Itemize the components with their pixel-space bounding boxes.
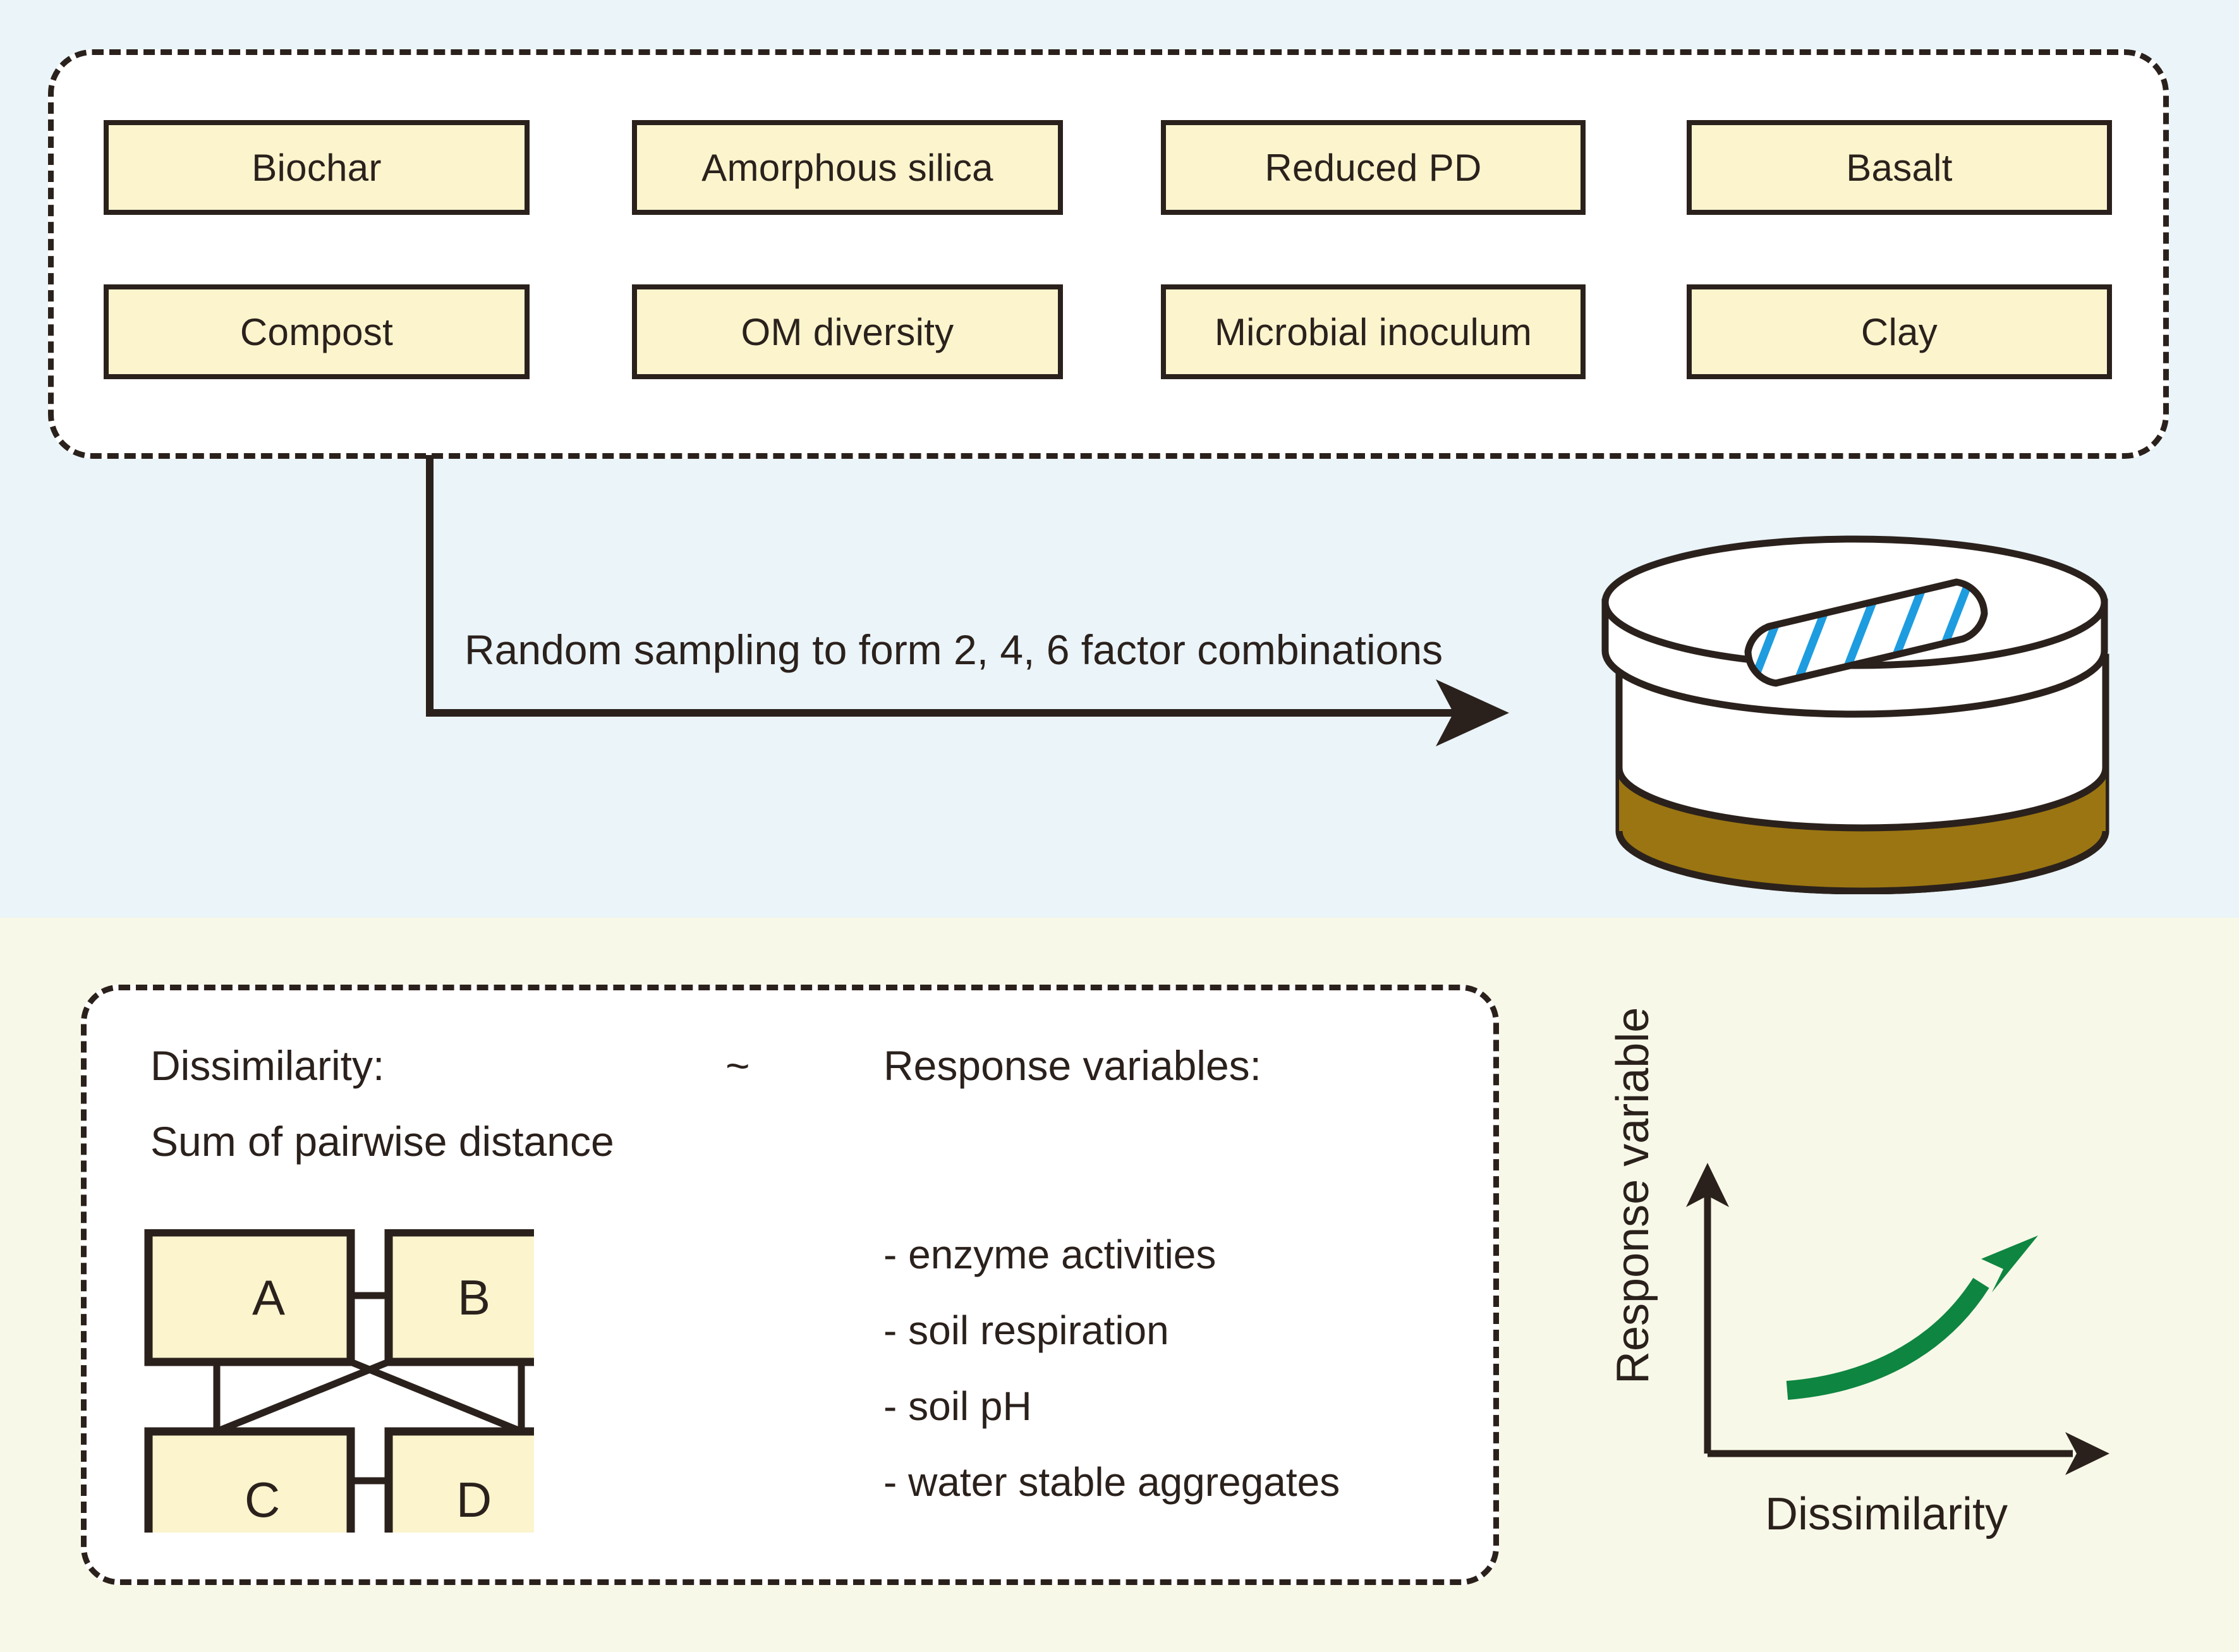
dissimilarity-subtitle: Sum of pairwise distance bbox=[150, 1117, 614, 1165]
factor-label: OM diversity bbox=[741, 310, 954, 354]
factor-label: Compost bbox=[240, 310, 393, 354]
factor-label: Amorphous silica bbox=[701, 146, 993, 190]
relation-symbol: ~ bbox=[725, 1042, 750, 1090]
factor-label: Clay bbox=[1861, 310, 1938, 354]
pairwise-distance-network: A B C D bbox=[142, 1229, 534, 1533]
network-node-label: B bbox=[458, 1270, 490, 1325]
network-node-label: D bbox=[456, 1472, 492, 1527]
response-variables-title: Response variables: bbox=[883, 1042, 1261, 1090]
factor-box-om-diversity[interactable]: OM diversity bbox=[632, 284, 1063, 379]
factor-box-biochar[interactable]: Biochar bbox=[104, 120, 530, 215]
response-item: - enzyme activities bbox=[883, 1231, 1216, 1278]
factor-box-compost[interactable]: Compost bbox=[104, 284, 530, 379]
x-axis-label: Dissimilarity bbox=[1765, 1489, 2008, 1540]
factor-box-microbial-inoculum[interactable]: Microbial inoculum bbox=[1161, 284, 1586, 379]
response-item: - water stable aggregates bbox=[883, 1459, 1340, 1505]
factor-label: Biochar bbox=[252, 146, 382, 190]
dissimilarity-title: Dissimilarity: bbox=[150, 1042, 384, 1090]
factor-label: Basalt bbox=[1846, 146, 1953, 190]
conceptual-plot: Response variable Dissimilarity bbox=[1567, 973, 2239, 1652]
sampling-arrow-icon bbox=[379, 442, 1548, 758]
trend-arrowhead bbox=[1981, 1236, 2038, 1292]
y-axis-label: Response variable bbox=[1608, 1007, 1658, 1384]
factor-box-basalt[interactable]: Basalt bbox=[1687, 120, 2112, 215]
response-item: - soil respiration bbox=[883, 1307, 1169, 1354]
figure-root: Biochar Amorphous silica Reduced PD Basa… bbox=[0, 0, 2239, 1652]
factor-box-amorphous-silica[interactable]: Amorphous silica bbox=[632, 120, 1063, 215]
factors-container bbox=[48, 49, 2169, 459]
factor-label: Microbial inoculum bbox=[1215, 310, 1532, 354]
factor-box-reduced-pd[interactable]: Reduced PD bbox=[1161, 120, 1586, 215]
soil-jar-illustration bbox=[1580, 534, 2149, 894]
network-node-a[interactable] bbox=[149, 1232, 351, 1362]
response-item: - soil pH bbox=[883, 1383, 1032, 1430]
top-panel: Biochar Amorphous silica Reduced PD Basa… bbox=[0, 0, 2239, 918]
factor-label: Reduced PD bbox=[1265, 146, 1481, 190]
factor-box-clay[interactable]: Clay bbox=[1687, 284, 2112, 379]
sampling-arrow-label: Random sampling to form 2, 4, 6 factor c… bbox=[464, 626, 1443, 674]
network-node-label: C bbox=[245, 1472, 280, 1527]
trend-curve bbox=[1787, 1283, 1981, 1390]
network-node-label: A bbox=[252, 1270, 285, 1325]
